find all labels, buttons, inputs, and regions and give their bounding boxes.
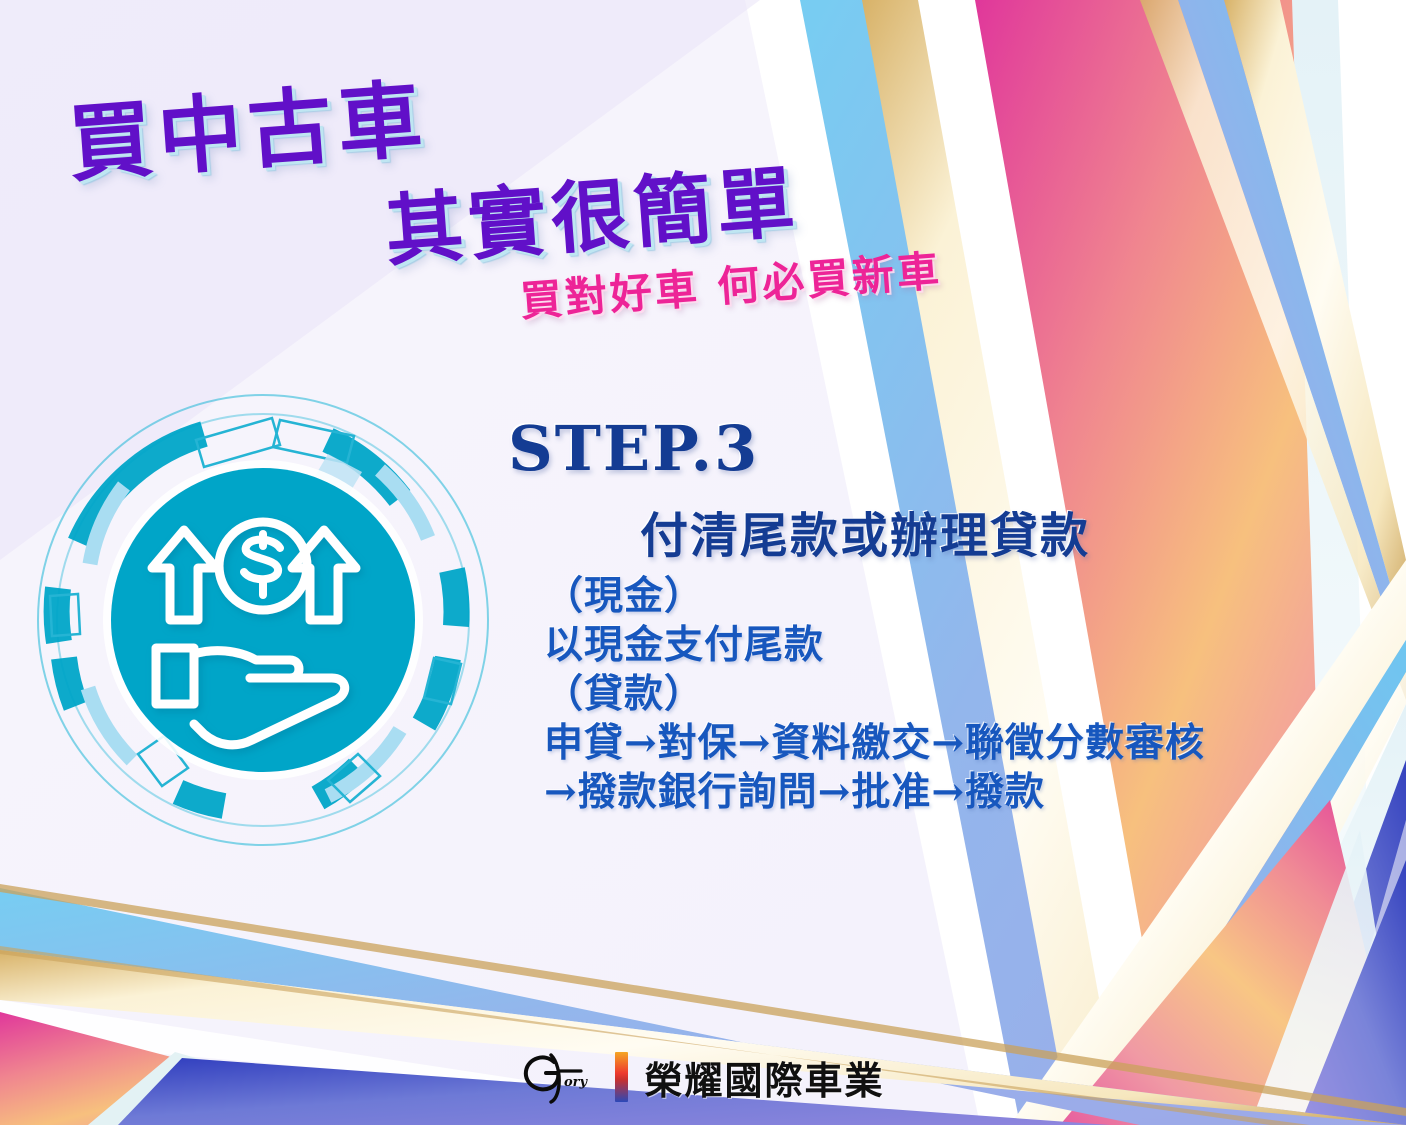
step-body-text: （現金） 以現金支付尾款 （貸款） 申貸→對保→資料繳交→聯徵分數審核 →撥款銀…: [544, 572, 1284, 817]
svg-text:ory: ory: [564, 1075, 589, 1090]
slide-canvas: 買中古車 其實很簡單 買對好車 何必買新車: [0, 0, 1406, 1125]
body-line-loan-flow-2: →撥款銀行詢問→批准→撥款: [544, 768, 1284, 817]
logo-divider-bar: [615, 1052, 628, 1102]
body-line-cash-detail: 以現金支付尾款: [544, 621, 1284, 670]
step-title: 付清尾款或辦理貸款: [640, 496, 1090, 566]
footer-branding: ory 榮耀國際車業: [0, 1037, 1406, 1117]
headline-line-1: 買中古車: [64, 52, 432, 199]
hand-holding-money-icon: [28, 358, 498, 878]
body-line-loan-header: （貸款）: [544, 670, 1284, 719]
step-label: STEP.3: [508, 412, 759, 485]
body-line-cash-header: （現金）: [544, 572, 1284, 621]
body-line-loan-flow-1: 申貸→對保→資料繳交→聯徵分數審核: [544, 719, 1284, 768]
headline-group: 買中古車 其實很簡單 買對好車 何必買新車: [0, 0, 1000, 340]
brand-name: 榮耀國際車業: [644, 1050, 884, 1105]
glory-logo-icon: ory: [521, 1049, 599, 1105]
